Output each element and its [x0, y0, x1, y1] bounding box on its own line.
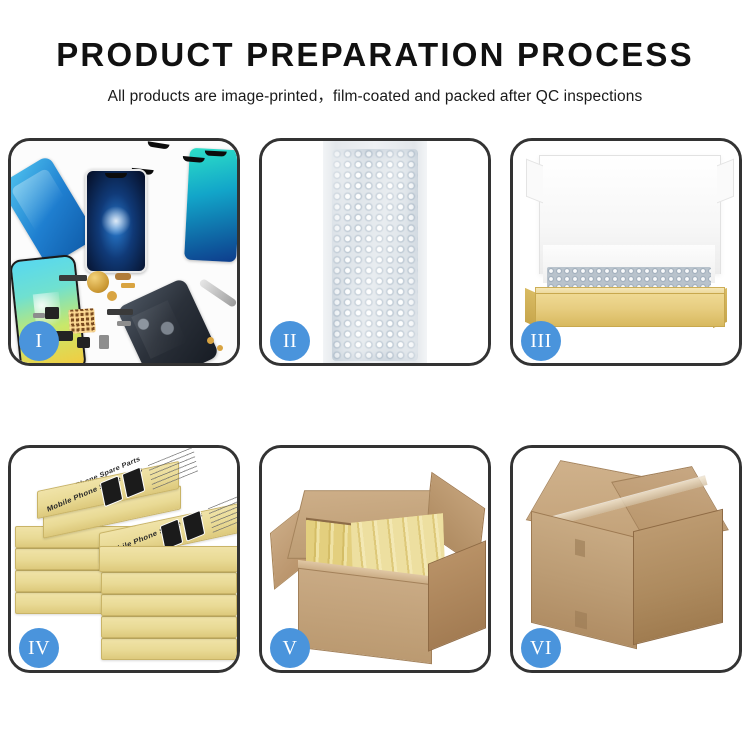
- copper-connector-part-icon: [115, 273, 131, 280]
- carton-right-panel-icon: [633, 509, 723, 645]
- page-subtitle: All products are image-printed，film-coat…: [0, 74, 750, 106]
- step-badge-4: IV: [19, 628, 59, 668]
- process-step-panel-1: I: [8, 138, 240, 366]
- retail-box: [101, 572, 237, 594]
- plastic-sheen-overlay: [332, 149, 418, 361]
- carton-seam-icon: [575, 539, 585, 557]
- carton-seam-icon: [575, 611, 587, 630]
- ic-chip-grid-icon: [68, 308, 96, 334]
- gold-screw-part-icon: [107, 291, 117, 301]
- step-badge-6: VI: [521, 628, 561, 668]
- process-step-panel-5: V: [259, 445, 491, 673]
- box-front-panel-icon: [535, 293, 725, 327]
- phone-display-teal-icon: [184, 148, 237, 263]
- process-steps-grid: I II III: [8, 138, 742, 673]
- tempered-glass-screen-icon: [85, 169, 147, 273]
- carton-front-panel-icon: [298, 568, 432, 664]
- ribbon-cable-part-icon: [107, 309, 133, 315]
- antenna-part-icon: [99, 335, 109, 349]
- retail-box: [99, 546, 237, 572]
- phone-notch-icon: [105, 173, 127, 178]
- retail-box: [101, 594, 237, 616]
- process-step-panel-6: VI: [510, 445, 742, 673]
- page-header: PRODUCT PREPARATION PROCESS All products…: [0, 0, 750, 106]
- step-badge-1: I: [19, 321, 59, 361]
- box-spec-lines-graphic: [208, 490, 237, 533]
- process-step-panel-4: Mobile Phone Spare Parts Mobile Phone Sp…: [8, 445, 240, 673]
- step-badge-2: II: [270, 321, 310, 361]
- screw-part-icon: [207, 337, 214, 344]
- screw-part-icon: [217, 345, 223, 351]
- page-title: PRODUCT PREPARATION PROCESS: [0, 0, 750, 74]
- gold-contact-part-icon: [121, 283, 135, 288]
- camera-module-part-icon: [45, 307, 59, 319]
- process-step-panel-2: II: [259, 138, 491, 366]
- shield-plate-part-icon: [117, 321, 131, 326]
- retail-box: [101, 638, 237, 660]
- step-badge-3: III: [521, 321, 561, 361]
- speaker-module-icon: [87, 271, 109, 293]
- bracket-part-icon: [33, 313, 45, 318]
- retail-box: [101, 616, 237, 638]
- vibrator-part-icon: [77, 337, 90, 348]
- phone-notch-icon: [205, 150, 227, 156]
- step-badge-5: V: [270, 628, 310, 668]
- flex-cable-part-icon: [59, 275, 87, 281]
- process-step-panel-3: III: [510, 138, 742, 366]
